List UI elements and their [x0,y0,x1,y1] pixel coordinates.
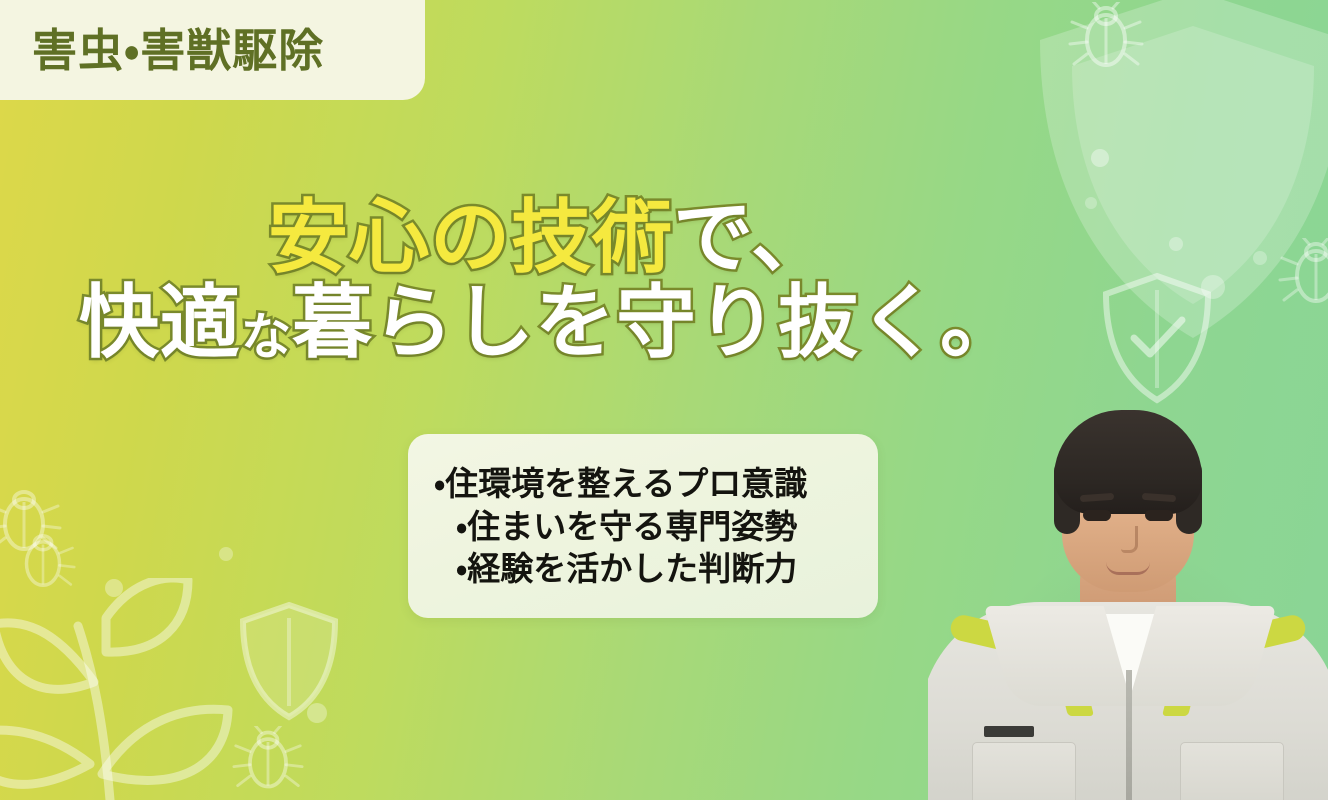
bug-icon [1068,2,1144,72]
shield-icon [236,600,342,722]
dot-icon [1090,148,1110,168]
category-badge: 害虫・害獣駆除 [0,0,425,100]
person-nose [1121,526,1138,553]
headline: 安心の技術で、 快適な暮らしを守り抜く。 [0,196,1100,366]
headline-line2-particle: な [241,309,292,365]
person-eye-right [1145,510,1173,521]
feature-card: ・住環境を整えるプロ意識 ・住まいを守る専門姿勢 ・経験を活かした判断力 [408,434,878,618]
dot-icon [218,546,234,562]
person-hair [1054,410,1202,514]
dot-icon [306,702,328,724]
dot-icon [104,578,124,598]
person-mouth [1106,562,1150,575]
uniform-zipper [1126,670,1132,800]
uniform-pocket-right [1180,742,1284,800]
uniform-pocket-left [972,742,1076,800]
category-badge-label: 害虫・害獣駆除 [32,28,324,73]
dot-icon [1168,236,1184,252]
hero-banner: 害虫・害獣駆除 安心の技術で、 快適な暮らしを守り抜く。 ・住環境を整えるプロ意… [0,0,1328,800]
headline-line2-part2: 暮らしを守り抜く。 [292,278,1021,367]
bug-icon [0,486,62,556]
bug-icon [10,530,76,592]
dot-icon [1252,250,1268,266]
bug-icon [232,726,304,794]
feature-item: ・住環境を整えるプロ意識 [430,463,852,506]
dot-icon [1200,274,1226,300]
leaf-icon [0,578,252,800]
bug-icon [1278,238,1328,308]
headline-line-2: 快適な暮らしを守り抜く。 [0,281,1100,366]
person-eye-left [1083,510,1111,521]
uniform-tag [984,726,1034,737]
headline-line1-tail: で、 [673,193,832,282]
headline-highlight: 安心の技術 [268,193,673,282]
headline-line2-part1: 快適 [79,278,241,367]
feature-item: ・住まいを守る専門姿勢 [430,506,852,549]
headline-line-1: 安心の技術で、 [0,196,1100,281]
feature-item: ・経験を活かした判断力 [430,548,852,591]
staff-photo [928,370,1328,800]
